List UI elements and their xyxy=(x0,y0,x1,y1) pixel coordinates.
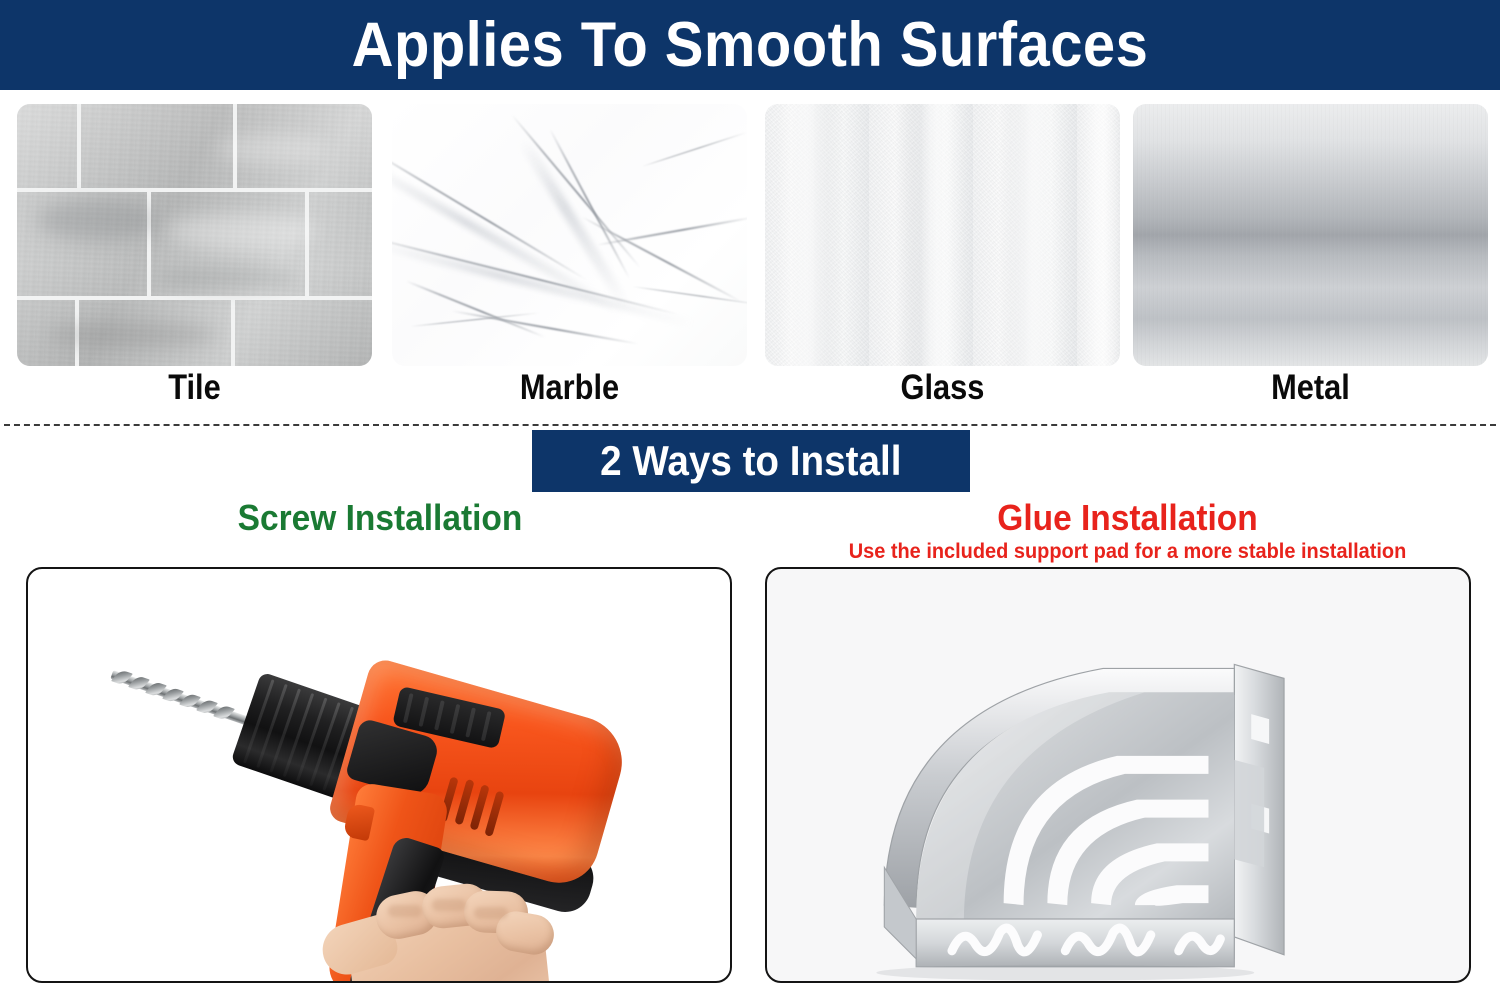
swatch-glass xyxy=(765,104,1120,366)
screw-installation-photo-card xyxy=(26,567,732,983)
metal-texture xyxy=(1133,104,1488,366)
marble-texture xyxy=(392,104,747,366)
drill-illustration xyxy=(28,569,730,981)
glue-installation-subtitle: Use the included support pad for a more … xyxy=(774,541,1482,562)
swatch-label-metal: Metal xyxy=(1154,370,1466,405)
hand-illustration xyxy=(314,887,564,983)
ways-to-install-banner: 2 Ways to Install xyxy=(532,430,970,492)
screw-installation-heading: Screw Installation xyxy=(27,500,734,536)
drill-bit-icon xyxy=(109,666,256,730)
swatch-tile xyxy=(17,104,372,366)
ways-to-install-label: 2 Ways to Install xyxy=(600,440,901,482)
swatch-label-glass: Glass xyxy=(786,370,1098,405)
glue-installation-photo-card xyxy=(765,567,1471,983)
surface-swatch-row xyxy=(0,104,1500,366)
corner-shelf-illustration xyxy=(767,569,1469,983)
glue-installation-heading: Glue Installation xyxy=(781,500,1474,536)
swatch-marble xyxy=(392,104,747,366)
header-banner: Applies To Smooth Surfaces xyxy=(0,0,1500,90)
swatch-label-tile: Tile xyxy=(38,370,350,405)
swatch-metal xyxy=(1133,104,1488,366)
page-title: Applies To Smooth Surfaces xyxy=(352,14,1149,77)
section-divider xyxy=(4,424,1496,426)
swatch-label-marble: Marble xyxy=(413,370,725,405)
